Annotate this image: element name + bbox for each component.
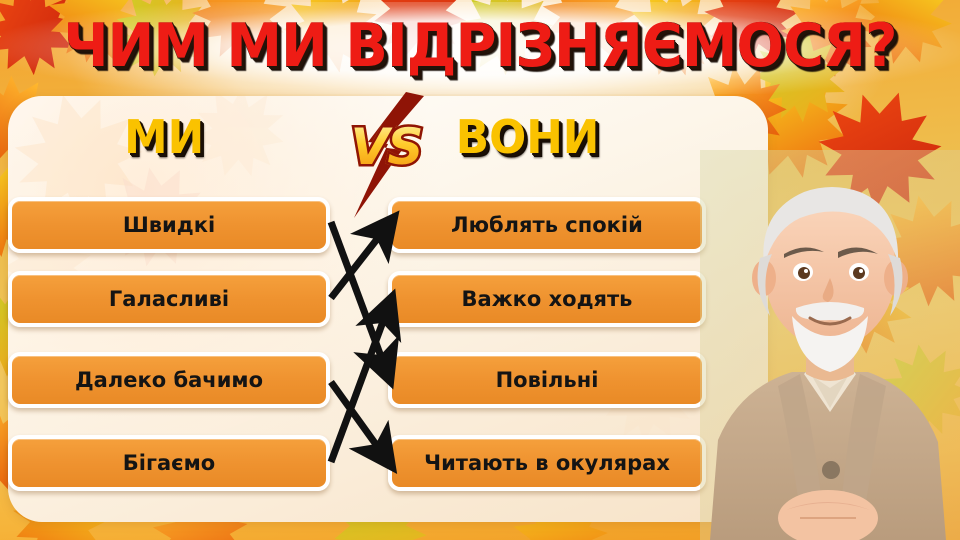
column-heading-they: ВОНИ [456,112,600,162]
pill-we-2[interactable]: Галасливі [8,271,330,327]
pill-label: Люблять спокій [451,213,643,237]
pill-they-4[interactable]: Читають в окулярах [388,435,706,491]
pill-we-1[interactable]: Швидкі [8,197,330,253]
column-heading-we: МИ [124,112,204,162]
pill-label: Далеко бачимо [75,368,263,392]
person-svg [700,150,960,540]
pill-we-4[interactable]: Бігаємо [8,435,330,491]
pill-label: Повільні [496,368,599,392]
pill-label: Бігаємо [123,451,215,475]
pill-label: Швидкі [123,213,215,237]
vs-label: VS [334,120,438,174]
slide-canvas: ЧИМ МИ ВІДРІЗНЯЄМОСЯ? МИ ВОНИ VS VS Швид… [0,0,960,540]
pill-label: Важко ходять [462,287,633,311]
pill-label: Галасливі [109,287,229,311]
pill-we-3[interactable]: Далеко бачимо [8,352,330,408]
pill-they-1[interactable]: Люблять спокій [388,197,706,253]
pill-they-3[interactable]: Повільні [388,352,706,408]
page-title: ЧИМ МИ ВІДРІЗНЯЄМОСЯ? [34,13,927,79]
pill-label: Читають в окулярах [424,451,670,475]
pill-they-2[interactable]: Важко ходять [388,271,706,327]
elderly-man-illustration [700,150,960,540]
